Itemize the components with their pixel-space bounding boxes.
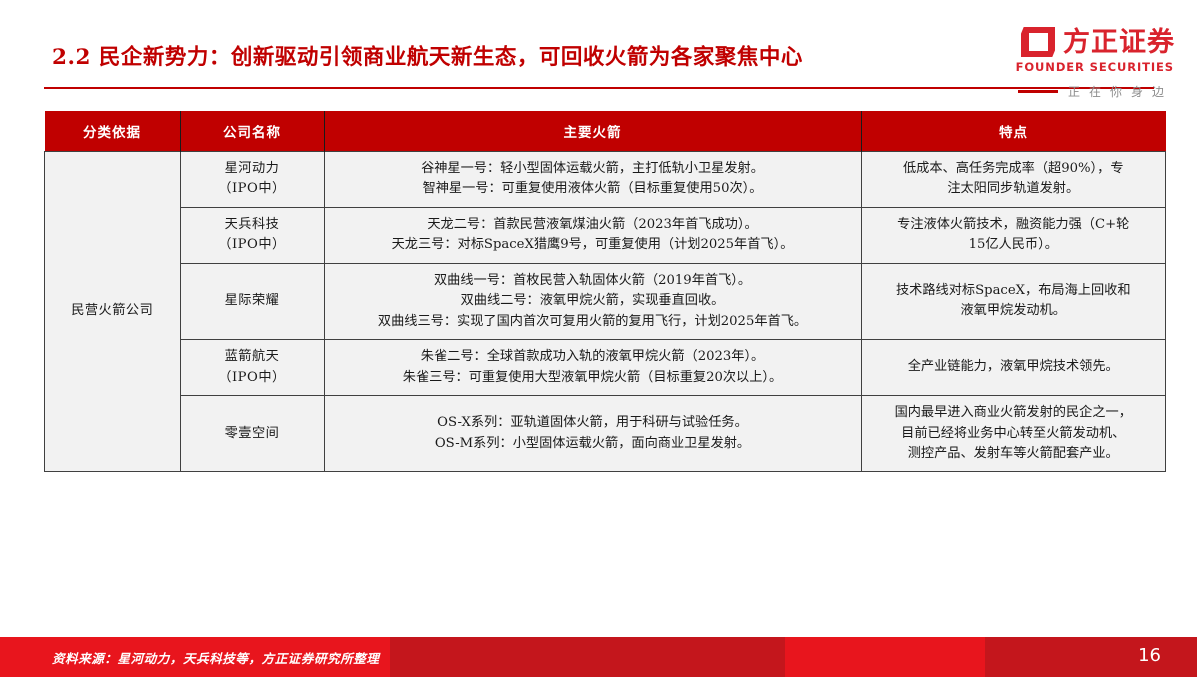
company-status: （IPO中） (187, 235, 318, 255)
company-name: 星际荣耀 (187, 291, 318, 311)
private-rocket-companies-table-wrapper: 分类依据 公司名称 主要火箭 特点 民营火箭公司 星河动力 （IPO中） 谷神星… (44, 111, 1154, 472)
column-header-company: 公司名称 (180, 111, 324, 152)
company-name: 零壹空间 (187, 424, 318, 444)
rocket-line: 天龙三号：对标SpaceX猎鹰9号，可重复使用（计划2025年首飞）。 (331, 235, 855, 255)
logo-primary-row: 方正证券 (965, 27, 1175, 57)
column-header-features: 特点 (861, 111, 1166, 152)
footer-segment-4 (985, 637, 1197, 677)
feature-line: 低成本、高任务完成率（超90%），专 (868, 159, 1160, 179)
source-note: 资料来源：星河动力，天兵科技等，方正证券研究所整理 (52, 648, 380, 667)
rockets-cell: 朱雀二号：全球首款成功入轨的液氧甲烷火箭（2023年）。 朱雀三号：可重复使用大… (324, 340, 861, 396)
feature-line: 国内最早进入商业火箭发射的民企之一， (868, 403, 1160, 423)
company-name: 蓝箭航天 (187, 347, 318, 367)
logo-tagline-row: 正在你身边 (965, 83, 1175, 100)
footer-segment-2 (390, 637, 785, 677)
rocket-line: 朱雀三号：可重复使用大型液氧甲烷火箭（目标重复20次以上）。 (331, 368, 855, 388)
features-cell: 国内最早进入商业火箭发射的民企之一， 目前已经将业务中心转至火箭发动机、 测控产… (861, 396, 1166, 472)
rockets-cell: 双曲线一号：首枚民营入轨固体火箭（2019年首飞）。 双曲线二号：液氧甲烷火箭，… (324, 263, 861, 339)
feature-line: 测控产品、发射车等火箭配套产业。 (868, 444, 1160, 464)
page-number: 16 (1138, 645, 1161, 666)
logo-chinese-name: 方正证券 (1063, 29, 1175, 56)
feature-line: 15亿人民币）。 (868, 235, 1160, 255)
features-cell: 全产业链能力，液氧甲烷技术领先。 (861, 340, 1166, 396)
features-cell: 技术路线对标SpaceX，布局海上回收和 液氧甲烷发动机。 (861, 263, 1166, 339)
tagline-dash-decoration (1018, 90, 1058, 93)
feature-line: 液氧甲烷发动机。 (868, 301, 1160, 321)
rockets-cell: OS-X系列：亚轨道固体火箭，用于科研与试验任务。 OS-M系列：小型固体运载火… (324, 396, 861, 472)
private-rocket-companies-table: 分类依据 公司名称 主要火箭 特点 民营火箭公司 星河动力 （IPO中） 谷神星… (44, 111, 1166, 472)
feature-line: 全产业链能力，液氧甲烷技术领先。 (868, 357, 1160, 377)
feature-line: 专注液体火箭技术，融资能力强（C+轮 (868, 215, 1160, 235)
rockets-cell: 谷神星一号：轻小型固体运载火箭，主打低轨小卫星发射。 智神星一号：可重复使用液体… (324, 152, 861, 208)
slide-header: 2.2 民企新势力：创新驱动引领商业航天新生态，可回收火箭为各家聚焦中心 方正证… (0, 0, 1197, 100)
rocket-line: 天龙二号：首款民营液氧煤油火箭（2023年首飞成功）。 (331, 215, 855, 235)
table-row: 蓝箭航天 （IPO中） 朱雀二号：全球首款成功入轨的液氧甲烷火箭（2023年）。… (45, 340, 1166, 396)
features-cell: 专注液体火箭技术，融资能力强（C+轮 15亿人民币）。 (861, 207, 1166, 263)
brand-logo: 方正证券 FOUNDER SECURITIES 正在你身边 (965, 27, 1175, 93)
column-header-rockets: 主要火箭 (324, 111, 861, 152)
feature-line: 目前已经将业务中心转至火箭发动机、 (868, 424, 1160, 444)
company-name: 天兵科技 (187, 215, 318, 235)
category-cell-private-rocket-companies: 民营火箭公司 (45, 152, 181, 472)
table-header-row: 分类依据 公司名称 主要火箭 特点 (45, 111, 1166, 152)
logo-english-name: FOUNDER SECURITIES (965, 60, 1175, 74)
rockets-cell: 天龙二号：首款民营液氧煤油火箭（2023年首飞成功）。 天龙三号：对标Space… (324, 207, 861, 263)
table-row: 星际荣耀 双曲线一号：首枚民营入轨固体火箭（2019年首飞）。 双曲线二号：液氧… (45, 263, 1166, 339)
rocket-line: 谷神星一号：轻小型固体运载火箭，主打低轨小卫星发射。 (331, 159, 855, 179)
features-cell: 低成本、高任务完成率（超90%），专 注太阳同步轨道发射。 (861, 152, 1166, 208)
company-cell: 天兵科技 （IPO中） (180, 207, 324, 263)
logo-tagline: 正在你身边 (1068, 83, 1175, 100)
rocket-line: 智神星一号：可重复使用液体火箭（目标重复使用50次）。 (331, 179, 855, 199)
table-row: 天兵科技 （IPO中） 天龙二号：首款民营液氧煤油火箭（2023年首飞成功）。 … (45, 207, 1166, 263)
feature-line: 注太阳同步轨道发射。 (868, 179, 1160, 199)
company-cell: 零壹空间 (180, 396, 324, 472)
column-header-category: 分类依据 (45, 111, 181, 152)
company-cell: 星河动力 （IPO中） (180, 152, 324, 208)
table-row: 零壹空间 OS-X系列：亚轨道固体火箭，用于科研与试验任务。 OS-M系列：小型… (45, 396, 1166, 472)
rocket-line: 双曲线二号：液氧甲烷火箭，实现垂直回收。 (331, 291, 855, 311)
rocket-line: 双曲线一号：首枚民营入轨固体火箭（2019年首飞）。 (331, 271, 855, 291)
company-name: 星河动力 (187, 159, 318, 179)
rocket-line: OS-X系列：亚轨道固体火箭，用于科研与试验任务。 (331, 413, 855, 433)
rocket-line: 双曲线三号：实现了国内首次可复用火箭的复用飞行，计划2025年首飞。 (331, 312, 855, 332)
rocket-line: 朱雀二号：全球首款成功入轨的液氧甲烷火箭（2023年）。 (331, 347, 855, 367)
founder-securities-mark-icon (1021, 27, 1055, 57)
page-title: 2.2 民企新势力：创新驱动引领商业航天新生态，可回收火箭为各家聚焦中心 (52, 40, 803, 71)
footer-segment-3 (785, 637, 985, 677)
company-status: （IPO中） (187, 179, 318, 199)
company-status: （IPO中） (187, 368, 318, 388)
company-cell: 蓝箭航天 （IPO中） (180, 340, 324, 396)
table-body: 民营火箭公司 星河动力 （IPO中） 谷神星一号：轻小型固体运载火箭，主打低轨小… (45, 152, 1166, 472)
table-row: 民营火箭公司 星河动力 （IPO中） 谷神星一号：轻小型固体运载火箭，主打低轨小… (45, 152, 1166, 208)
rocket-line: OS-M系列：小型固体运载火箭，面向商业卫星发射。 (331, 434, 855, 454)
table-head: 分类依据 公司名称 主要火箭 特点 (45, 111, 1166, 152)
company-cell: 星际荣耀 (180, 263, 324, 339)
feature-line: 技术路线对标SpaceX，布局海上回收和 (868, 281, 1160, 301)
